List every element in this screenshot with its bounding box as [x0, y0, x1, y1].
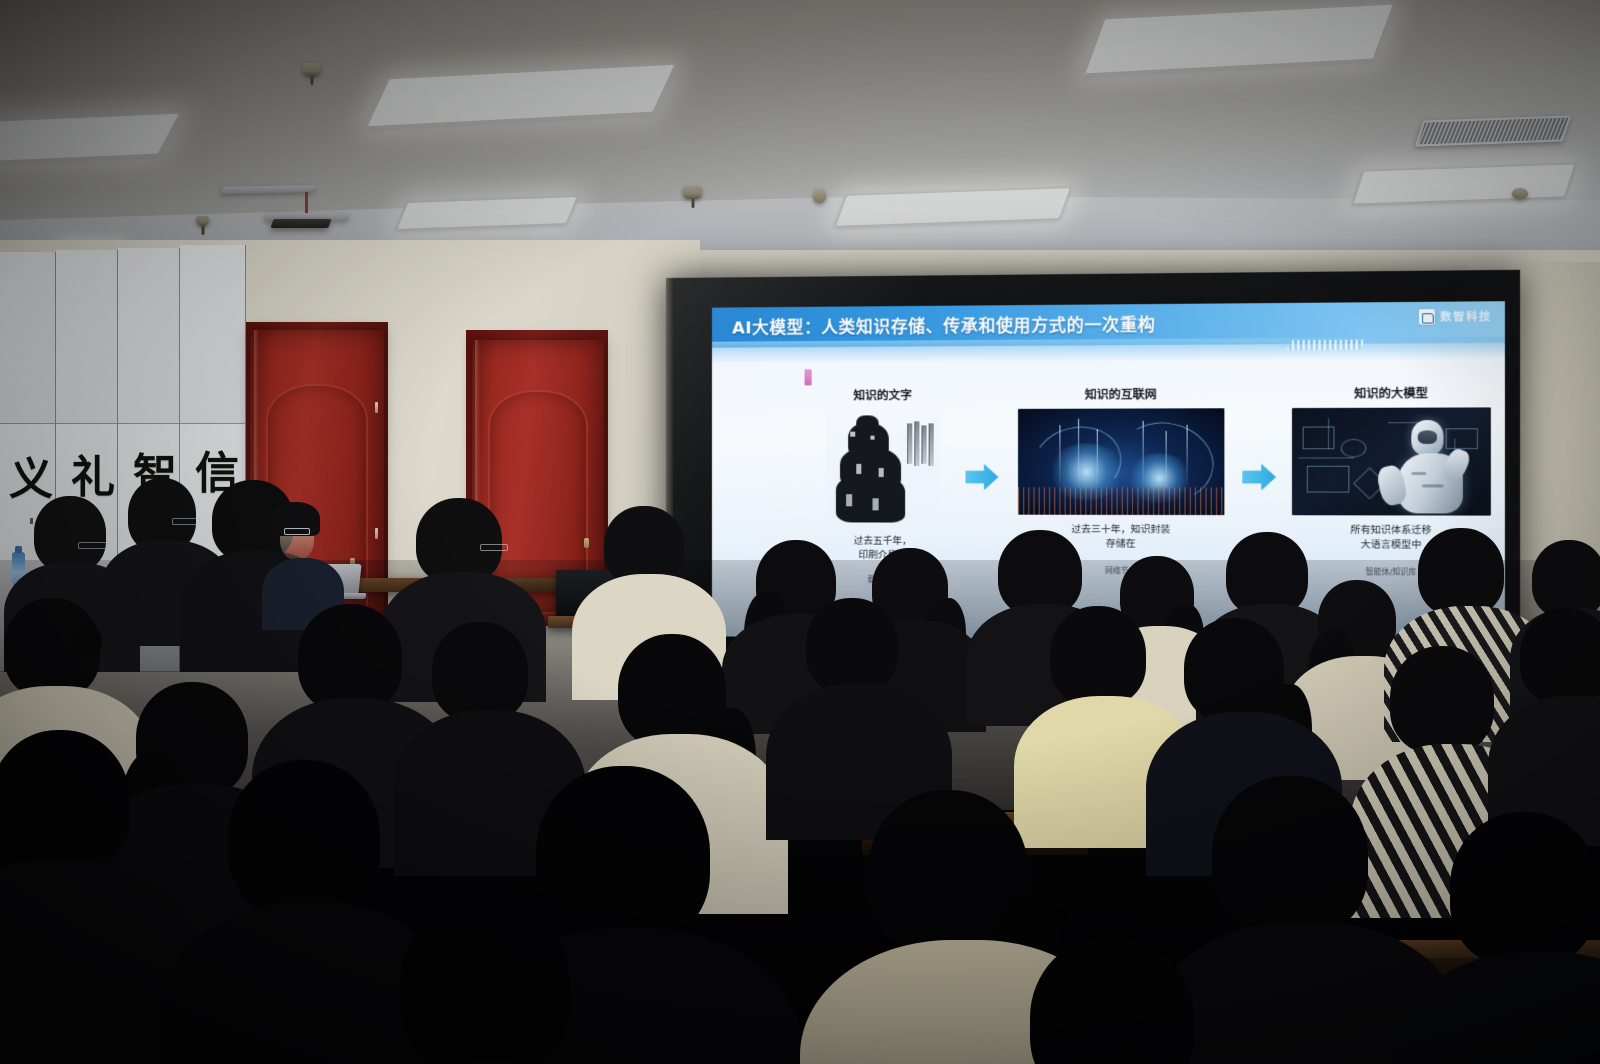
sprinkler-head-icon [683, 186, 702, 199]
head [400, 900, 570, 1064]
eyeglasses [78, 542, 108, 549]
slide-column-1: 知识的文字 [786, 387, 980, 388]
wall-panel [118, 248, 180, 424]
eyeglasses [480, 544, 508, 551]
slide-column-heading: 知识的文字 [853, 387, 912, 403]
door-hinge [375, 528, 378, 539]
head [432, 622, 528, 722]
slide-column-heading: 知识的互联网 [1085, 386, 1157, 403]
ceiling-panel-light [1354, 164, 1575, 203]
head [1450, 812, 1598, 966]
ceiling-panel-light [368, 65, 675, 127]
slide-logo-text: 数智科技 [1440, 309, 1492, 325]
head [806, 598, 898, 694]
ceiling-panel-light [1085, 5, 1392, 74]
eyeglasses [172, 518, 200, 525]
presentation-room-scene: 义 仁者爱人 义之所在 礼 克己复礼 立身之本 智 知人者智 明辨是非 信 言而… [0, 0, 1600, 1064]
eyeglasses [284, 528, 310, 535]
sprinkler-head-icon [303, 63, 320, 76]
head [536, 766, 710, 946]
ancient-scroll-figure-image [826, 409, 940, 529]
slide-logo: 数智科技 [1419, 309, 1492, 325]
slide-column-2: 知识的互联网 [1009, 386, 1234, 387]
ceiling-panel-light [836, 188, 1070, 226]
slide-column-caption: 过去三十年，知识封装 存储在 [1071, 523, 1170, 551]
hair-bun [72, 624, 102, 660]
calligraphy-char-yi: 义 [8, 458, 54, 502]
calligraphy-seal [30, 518, 33, 524]
wall-panel [0, 252, 56, 424]
calligraphy-char-li: 礼 [70, 456, 116, 500]
wall-panel [56, 250, 118, 424]
door-knob-icon[interactable] [584, 538, 589, 548]
head [228, 760, 380, 918]
head [1418, 528, 1504, 616]
door-hinge [375, 402, 378, 413]
square-monitor-logo-icon [1419, 309, 1435, 325]
head [1532, 540, 1600, 618]
head [34, 496, 106, 572]
smoke-detector-icon [813, 188, 826, 203]
right-arrow-icon [1242, 464, 1276, 491]
blue-network-city-image [1018, 408, 1224, 515]
slide-decoration-ribbon [1287, 340, 1366, 351]
white-humanoid-robot-image [1292, 407, 1491, 515]
head [1212, 776, 1368, 938]
head [1390, 646, 1494, 754]
slide-title: AI大模型：人类知识存储、传承和使用方式的一次重构 [732, 311, 1156, 338]
head [1520, 608, 1600, 704]
projector-body [270, 219, 331, 228]
smoke-detector-icon [1512, 188, 1528, 199]
wall-panel [180, 245, 246, 424]
head [298, 604, 402, 712]
slide-accent-marker [805, 369, 812, 385]
ceiling-panel-light [0, 114, 179, 163]
slide-column-caption: 所有知识体系迁移 大语言模型中 [1350, 524, 1431, 553]
hvac-vent-grille [1415, 115, 1571, 146]
slide-column-heading: 知识的大模型 [1354, 385, 1428, 402]
head [1050, 606, 1146, 706]
ceiling-panel-light [398, 197, 577, 229]
right-arrow-icon [966, 464, 999, 490]
projector-mount-plate [220, 185, 315, 194]
slide-column-3: 知识的大模型 [1285, 384, 1499, 385]
